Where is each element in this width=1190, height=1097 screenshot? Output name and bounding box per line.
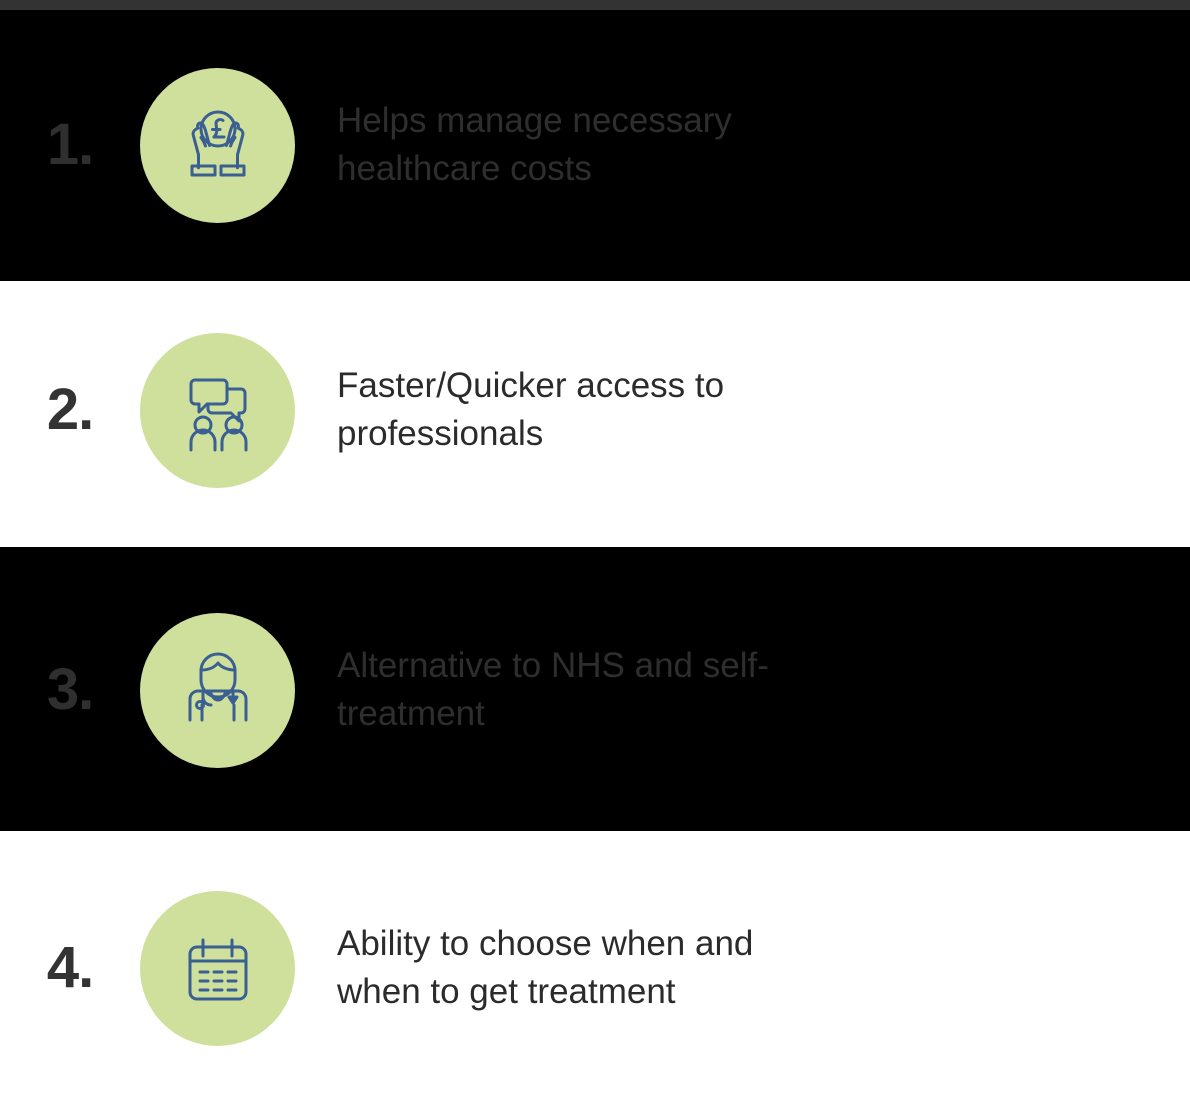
list-item: 1. Helps manage necessary healthcare cos… [0,55,1190,235]
icon-badge [140,333,295,488]
benefits-infographic: 1. Helps manage necessary healthcare cos… [0,0,1190,1097]
item-number: 2. [0,381,140,439]
list-item: 2. Faster/Quicker access to professional… [0,320,1190,500]
item-label: Alternative to NHS and self-treatment [337,642,837,739]
speech-bubbles-two-people-icon [170,362,266,458]
item-label: Helps manage necessary healthcare costs [337,97,837,194]
item-number: 4. [0,939,140,997]
doctor-with-stethoscope-icon [170,642,266,738]
icon-badge [140,68,295,223]
list-item: 4. Ability to choose when and when to ge… [0,878,1190,1058]
top-rule-divider [0,0,1190,10]
icon-badge [140,613,295,768]
item-label: Faster/Quicker access to professionals [337,362,837,459]
icon-badge [140,891,295,1046]
item-number: 1. [0,116,140,174]
item-number: 3. [0,661,140,719]
list-item: 3. Alternative to NHS and self-treatment [0,600,1190,780]
calendar-icon [170,920,266,1016]
item-label: Ability to choose when and when to get t… [337,920,837,1017]
hands-holding-pound-coin-icon [170,97,266,193]
